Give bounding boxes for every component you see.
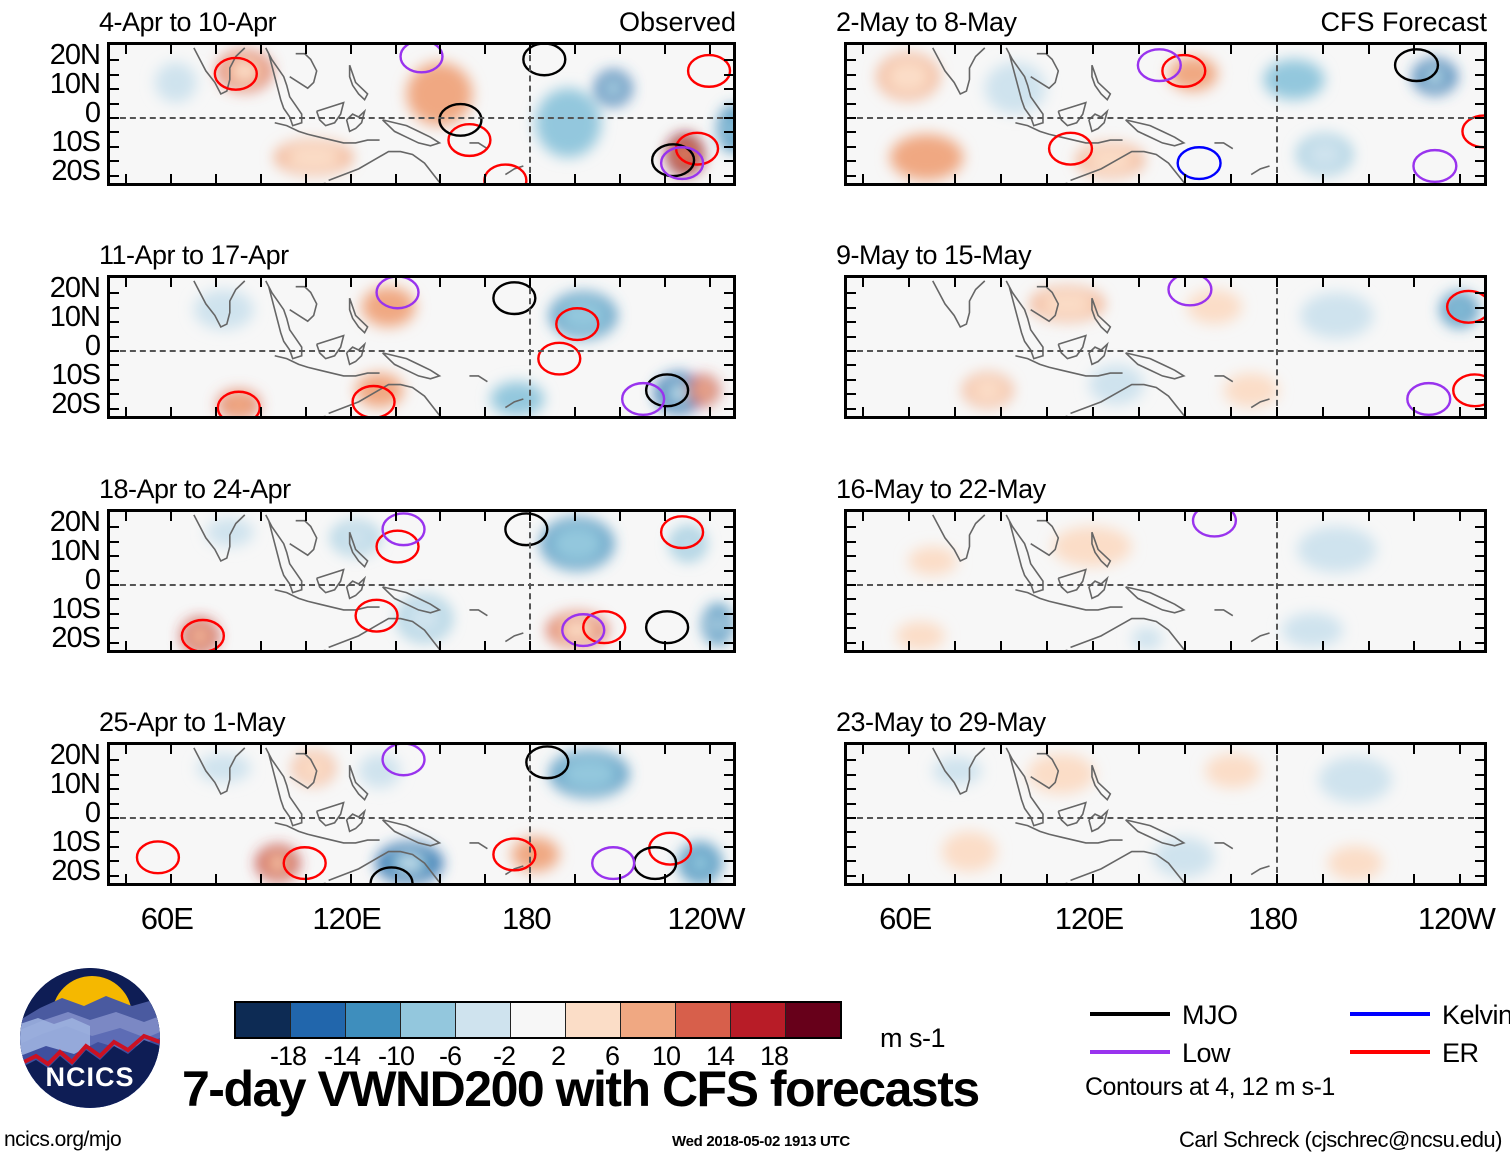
lat-tick: [724, 393, 733, 395]
lat-tick: [847, 570, 856, 572]
lat-tick: [1475, 379, 1484, 381]
lon-tick: [619, 874, 621, 883]
lon-tick: [260, 407, 262, 416]
lon-tick: [1092, 874, 1094, 883]
lat-tick: [1475, 117, 1484, 119]
lon-tick: [954, 45, 956, 54]
lon-tick: [484, 874, 486, 883]
colorbar: [234, 1001, 842, 1039]
lon-tick: [170, 45, 172, 54]
lon-tick: [862, 512, 864, 521]
lon-tick: [439, 45, 441, 54]
lat-tick: [724, 875, 733, 877]
dateline-marker: [529, 45, 531, 183]
lon-tick: [1138, 512, 1140, 521]
lon-tick: [709, 174, 711, 183]
lon-tick: [664, 512, 666, 521]
lon-tick: [484, 278, 486, 287]
lon-tick: [1230, 641, 1232, 650]
lon-tick: [170, 874, 172, 883]
lon-tick: [395, 407, 397, 416]
lat-tick: [847, 379, 856, 381]
lon-tick: [619, 512, 621, 521]
lon-tick: [215, 745, 217, 754]
lon-tick: [1322, 407, 1324, 416]
lon-tick: [350, 278, 352, 287]
lat-tick: [724, 408, 733, 410]
lon-tick: [125, 874, 127, 883]
x-axis-label: 60E: [122, 901, 212, 937]
lon-tick: [305, 745, 307, 754]
lon-tick: [574, 407, 576, 416]
contour-interval-note: Contours at 4, 12 m s-1: [1085, 1073, 1335, 1102]
lon-tick: [439, 278, 441, 287]
lon-tick: [954, 641, 956, 650]
map-panel: [844, 42, 1487, 186]
lat-tick: [847, 803, 856, 805]
lon-tick: [1413, 512, 1415, 521]
lon-tick: [908, 512, 910, 521]
lon-tick: [1184, 512, 1186, 521]
lon-tick: [1413, 278, 1415, 287]
lon-tick: [862, 874, 864, 883]
lon-tick: [574, 174, 576, 183]
lon-tick: [709, 45, 711, 54]
lon-tick: [1322, 45, 1324, 54]
lon-tick: [170, 512, 172, 521]
lon-tick: [1092, 278, 1094, 287]
lon-tick: [125, 45, 127, 54]
lat-tick: [110, 307, 119, 309]
lon-tick: [439, 745, 441, 754]
lon-tick: [439, 174, 441, 183]
lon-tick: [260, 278, 262, 287]
lon-tick: [1459, 174, 1461, 183]
dateline-marker: [529, 512, 531, 650]
lon-tick: [1092, 512, 1094, 521]
lon-tick: [215, 407, 217, 416]
lon-tick: [1322, 745, 1324, 754]
colorbar-segment: [346, 1003, 401, 1037]
x-axis-label: 180: [481, 901, 571, 937]
lat-tick: [1475, 598, 1484, 600]
lat-tick: [110, 379, 119, 381]
lat-tick: [847, 541, 856, 543]
lat-tick: [1475, 803, 1484, 805]
lat-tick: [847, 408, 856, 410]
lon-tick: [1230, 174, 1232, 183]
lon-tick: [1413, 641, 1415, 650]
lon-tick: [1322, 512, 1324, 521]
panel-title: 4-Apr to 10-Apr: [99, 7, 276, 38]
lat-tick: [110, 860, 119, 862]
lat-tick: [847, 160, 856, 162]
map-panel: [107, 42, 736, 186]
lon-tick: [1413, 45, 1415, 54]
lon-tick: [529, 174, 531, 183]
site-url-label[interactable]: ncics.org/mjo: [4, 1128, 121, 1152]
lon-tick: [862, 278, 864, 287]
lon-tick: [305, 512, 307, 521]
colorbar-segment: [621, 1003, 676, 1037]
lon-tick: [125, 174, 127, 183]
lat-tick: [724, 350, 733, 352]
lon-tick: [1000, 641, 1002, 650]
lon-tick: [1184, 407, 1186, 416]
lon-tick: [529, 745, 531, 754]
lon-tick: [1459, 874, 1461, 883]
lon-tick: [439, 874, 441, 883]
lat-tick: [110, 817, 119, 819]
lon-tick: [1046, 407, 1048, 416]
lon-tick: [125, 641, 127, 650]
lon-tick: [484, 174, 486, 183]
lat-tick: [1475, 74, 1484, 76]
lat-tick: [1475, 103, 1484, 105]
lon-tick: [862, 641, 864, 650]
lat-tick: [724, 379, 733, 381]
lat-tick: [110, 627, 119, 629]
lon-tick: [1459, 641, 1461, 650]
lat-tick: [110, 555, 119, 557]
lat-tick: [110, 584, 119, 586]
x-axis-label: 60E: [860, 901, 950, 937]
lat-tick: [724, 292, 733, 294]
colorbar-units-label: m s-1: [880, 1023, 945, 1054]
lon-tick: [350, 45, 352, 54]
lat-tick: [724, 146, 733, 148]
lon-tick: [305, 174, 307, 183]
lon-tick: [619, 45, 621, 54]
ncics-logo-graphic: NCICS: [20, 968, 160, 1108]
lon-tick: [529, 641, 531, 650]
lat-tick: [724, 175, 733, 177]
map-panel: [107, 275, 736, 419]
lon-tick: [1230, 874, 1232, 883]
lat-tick: [110, 570, 119, 572]
lon-tick: [619, 407, 621, 416]
lat-tick: [847, 393, 856, 395]
lat-tick: [110, 875, 119, 877]
lon-tick: [1184, 641, 1186, 650]
colorbar-segment: [731, 1003, 786, 1037]
lat-tick: [847, 627, 856, 629]
lat-tick: [110, 292, 119, 294]
lon-tick: [1276, 874, 1278, 883]
legend-label: Kelvin x2: [1442, 1000, 1510, 1031]
lon-tick: [908, 278, 910, 287]
lat-tick: [1475, 860, 1484, 862]
lon-tick: [350, 874, 352, 883]
panel-title: 9-May to 15-May: [836, 240, 1031, 271]
lon-tick: [1000, 278, 1002, 287]
lon-tick: [1000, 512, 1002, 521]
lon-tick: [350, 641, 352, 650]
lat-tick: [1475, 321, 1484, 323]
lon-tick: [1184, 874, 1186, 883]
lat-tick: [847, 88, 856, 90]
lon-tick: [1276, 278, 1278, 287]
map-panel: [844, 742, 1487, 886]
x-axis-label: 120E: [1044, 901, 1134, 937]
lat-tick: [1475, 817, 1484, 819]
lon-tick: [170, 174, 172, 183]
lon-tick: [1276, 512, 1278, 521]
lon-tick: [1184, 174, 1186, 183]
lat-tick: [1475, 160, 1484, 162]
lon-tick: [260, 45, 262, 54]
lon-tick: [1413, 174, 1415, 183]
lon-tick: [1322, 174, 1324, 183]
lon-tick: [1230, 278, 1232, 287]
lon-tick: [619, 641, 621, 650]
panel-title: 25-Apr to 1-May: [99, 707, 285, 738]
lon-tick: [954, 745, 956, 754]
legend-swatch-mjo: [1090, 1012, 1170, 1016]
lon-tick: [574, 512, 576, 521]
y-axis-label: 20S: [0, 155, 100, 188]
x-axis-label: 120W: [1411, 901, 1501, 937]
lat-tick: [847, 336, 856, 338]
lat-tick: [847, 555, 856, 557]
lat-tick: [847, 860, 856, 862]
lon-tick: [1459, 278, 1461, 287]
equator-line: [847, 117, 1484, 119]
colorbar-segment: [511, 1003, 566, 1037]
lon-tick: [1276, 745, 1278, 754]
lon-tick: [1000, 745, 1002, 754]
lon-tick: [1046, 278, 1048, 287]
lon-tick: [1322, 278, 1324, 287]
x-axis-label: 120E: [302, 901, 392, 937]
anomaly-shading: [847, 278, 1487, 419]
lon-tick: [350, 174, 352, 183]
lon-tick: [1046, 45, 1048, 54]
lon-tick: [862, 745, 864, 754]
lon-tick: [908, 641, 910, 650]
lon-tick: [1276, 407, 1278, 416]
lon-tick: [395, 174, 397, 183]
lon-tick: [1046, 745, 1048, 754]
lon-tick: [1000, 407, 1002, 416]
anomaly-shading: [110, 512, 736, 653]
equator-line: [110, 117, 733, 119]
lon-tick: [908, 745, 910, 754]
lat-tick: [110, 831, 119, 833]
lon-tick: [439, 512, 441, 521]
lon-tick: [664, 874, 666, 883]
lat-tick: [1475, 541, 1484, 543]
lat-tick: [724, 831, 733, 833]
lon-tick: [1368, 45, 1370, 54]
lon-tick: [1184, 45, 1186, 54]
lon-tick: [529, 874, 531, 883]
lon-tick: [574, 641, 576, 650]
lon-tick: [1230, 407, 1232, 416]
lon-tick: [1000, 874, 1002, 883]
lat-tick: [724, 803, 733, 805]
lat-tick: [724, 817, 733, 819]
panel-title: 11-Apr to 17-Apr: [99, 240, 289, 271]
lon-tick: [954, 874, 956, 883]
lon-tick: [1000, 174, 1002, 183]
lon-tick: [954, 512, 956, 521]
lon-tick: [1138, 641, 1140, 650]
lat-tick: [110, 364, 119, 366]
lat-tick: [1475, 831, 1484, 833]
lat-tick: [1475, 875, 1484, 877]
colorbar-segment: [456, 1003, 511, 1037]
lat-tick: [110, 642, 119, 644]
lon-tick: [260, 174, 262, 183]
dateline-marker: [1276, 278, 1278, 416]
lon-tick: [1138, 745, 1140, 754]
lat-tick: [1475, 584, 1484, 586]
lat-tick: [724, 759, 733, 761]
dateline-marker: [529, 278, 531, 416]
lat-tick: [1475, 131, 1484, 133]
lon-tick: [395, 278, 397, 287]
lon-tick: [305, 278, 307, 287]
lon-tick: [664, 45, 666, 54]
lon-tick: [709, 278, 711, 287]
lon-tick: [709, 745, 711, 754]
lon-tick: [215, 174, 217, 183]
lon-tick: [1459, 45, 1461, 54]
lat-tick: [724, 160, 733, 162]
lon-tick: [305, 45, 307, 54]
lat-tick: [110, 59, 119, 61]
lon-tick: [664, 174, 666, 183]
lat-tick: [847, 74, 856, 76]
lon-tick: [305, 407, 307, 416]
anomaly-shading: [847, 45, 1487, 186]
lat-tick: [1475, 292, 1484, 294]
lon-tick: [709, 874, 711, 883]
ncics-logo: NCICS: [20, 968, 160, 1108]
lat-tick: [110, 350, 119, 352]
lon-tick: [1046, 641, 1048, 650]
colorbar-segment: [236, 1003, 291, 1037]
lon-tick: [1368, 278, 1370, 287]
lon-tick: [1230, 45, 1232, 54]
lon-tick: [529, 407, 531, 416]
lon-tick: [1276, 45, 1278, 54]
lat-tick: [847, 584, 856, 586]
lat-tick: [110, 336, 119, 338]
lat-tick: [110, 846, 119, 848]
lat-tick: [847, 831, 856, 833]
lat-tick: [1475, 846, 1484, 848]
lat-tick: [1475, 555, 1484, 557]
lon-tick: [908, 874, 910, 883]
legend-label: MJO: [1182, 1000, 1238, 1031]
lon-tick: [439, 407, 441, 416]
lon-tick: [862, 174, 864, 183]
lat-tick: [724, 860, 733, 862]
lat-tick: [847, 817, 856, 819]
lat-tick: [847, 774, 856, 776]
lon-tick: [1230, 745, 1232, 754]
lat-tick: [1475, 774, 1484, 776]
lon-tick: [260, 874, 262, 883]
lon-tick: [484, 45, 486, 54]
lon-tick: [1276, 174, 1278, 183]
lat-tick: [1475, 350, 1484, 352]
lat-tick: [847, 846, 856, 848]
lon-tick: [908, 45, 910, 54]
lon-tick: [170, 407, 172, 416]
lat-tick: [1475, 393, 1484, 395]
lat-tick: [724, 364, 733, 366]
lat-tick: [847, 598, 856, 600]
lon-tick: [574, 278, 576, 287]
lon-tick: [1322, 874, 1324, 883]
lat-tick: [1475, 759, 1484, 761]
author-contact-label[interactable]: Carl Schreck (cjschrec@ncsu.edu): [1179, 1127, 1502, 1153]
lat-tick: [110, 541, 119, 543]
lon-tick: [350, 407, 352, 416]
panel-title: 18-Apr to 24-Apr: [99, 474, 291, 505]
anomaly-shading: [110, 745, 736, 886]
lon-tick: [619, 745, 621, 754]
lon-tick: [1184, 278, 1186, 287]
lat-tick: [724, 541, 733, 543]
lat-tick: [110, 131, 119, 133]
lat-tick: [1475, 642, 1484, 644]
lon-tick: [529, 512, 531, 521]
lat-tick: [847, 526, 856, 528]
lon-tick: [215, 874, 217, 883]
y-axis-label: 20S: [0, 855, 100, 888]
lon-tick: [908, 407, 910, 416]
lon-tick: [350, 512, 352, 521]
lon-tick: [1413, 874, 1415, 883]
lat-tick: [724, 307, 733, 309]
lon-tick: [954, 174, 956, 183]
lon-tick: [395, 745, 397, 754]
legend-swatch-er: [1350, 1050, 1430, 1054]
lat-tick: [847, 875, 856, 877]
lon-tick: [215, 512, 217, 521]
lat-tick: [110, 103, 119, 105]
page-title: 7-day VWND200 with CFS forecasts: [182, 1060, 979, 1118]
lon-tick: [125, 407, 127, 416]
lon-tick: [1368, 745, 1370, 754]
lon-tick: [1092, 641, 1094, 650]
lon-tick: [1276, 641, 1278, 650]
lon-tick: [1368, 407, 1370, 416]
lon-tick: [1092, 745, 1094, 754]
lat-tick: [110, 160, 119, 162]
lat-tick: [1475, 175, 1484, 177]
lat-tick: [110, 321, 119, 323]
lon-tick: [709, 512, 711, 521]
lat-tick: [724, 555, 733, 557]
lat-tick: [110, 117, 119, 119]
lon-tick: [908, 174, 910, 183]
lon-tick: [439, 641, 441, 650]
lat-tick: [847, 613, 856, 615]
lon-tick: [709, 641, 711, 650]
lon-tick: [664, 278, 666, 287]
lat-tick: [1475, 408, 1484, 410]
lon-tick: [664, 745, 666, 754]
lon-tick: [305, 641, 307, 650]
lon-tick: [1138, 174, 1140, 183]
lon-tick: [1138, 407, 1140, 416]
lon-tick: [170, 278, 172, 287]
